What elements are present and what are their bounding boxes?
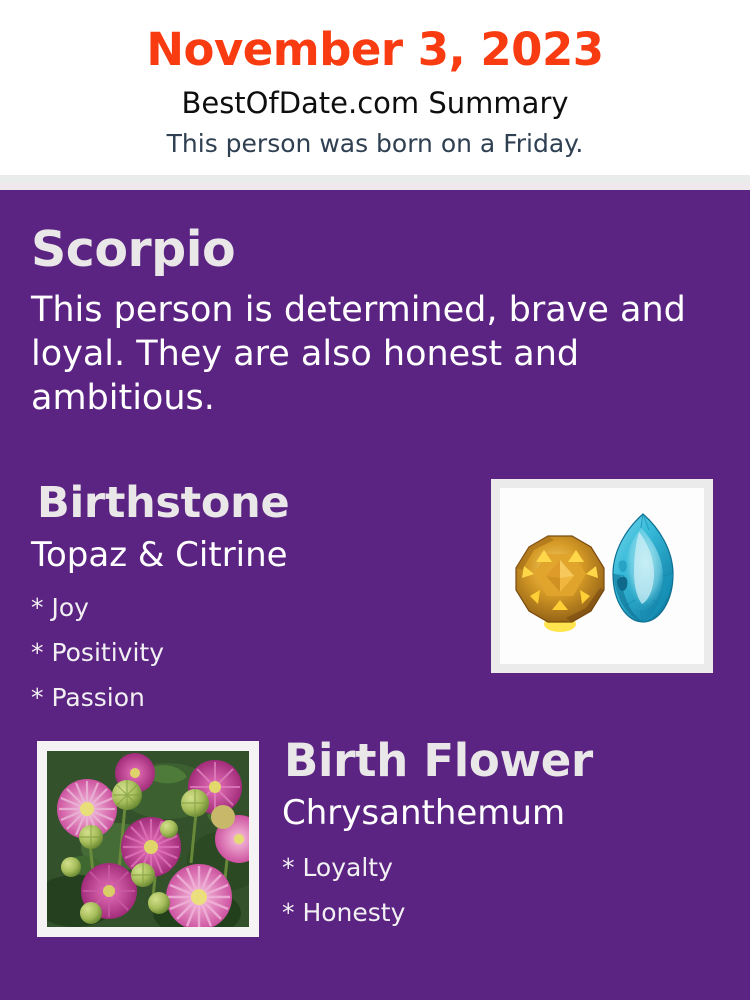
divider-band-bottom	[0, 183, 750, 190]
gemstones-illustration	[500, 488, 704, 664]
page-header: November 3, 2023 BestOfDate.com Summary …	[0, 0, 750, 175]
birthstone-image-frame	[491, 479, 713, 673]
summary-panel: Scorpio This person is determined, brave…	[0, 190, 750, 1000]
page-title-date: November 3, 2023	[0, 23, 750, 77]
birthstone-trait-list: * Joy * Positivity * Passion	[31, 585, 451, 720]
list-item: * Positivity	[31, 630, 451, 675]
birthflower-heading: Birth Flower	[284, 735, 593, 787]
birthstone-name: Topaz & Citrine	[31, 534, 288, 576]
birthstone-heading: Birthstone	[37, 478, 289, 528]
list-item: * Loyalty	[282, 845, 682, 890]
site-subtitle: BestOfDate.com Summary	[0, 86, 750, 120]
zodiac-sign-heading: Scorpio	[31, 222, 235, 278]
divider-band-top	[0, 175, 750, 183]
list-item: * Honesty	[282, 890, 682, 935]
weekday-note: This person was born on a Friday.	[0, 129, 750, 159]
chrysanthemum-illustration	[47, 751, 249, 927]
birthflower-trait-list: * Loyalty * Honesty	[282, 845, 682, 935]
summary-page: November 3, 2023 BestOfDate.com Summary …	[0, 0, 750, 1000]
birthstone-image	[500, 488, 704, 664]
zodiac-description: This person is determined, brave and loy…	[31, 288, 701, 420]
birthflower-image	[47, 751, 249, 927]
list-item: * Passion	[31, 675, 451, 720]
birthflower-image-frame	[37, 741, 259, 937]
list-item: * Joy	[31, 585, 451, 630]
birthflower-name: Chrysanthemum	[282, 792, 565, 834]
